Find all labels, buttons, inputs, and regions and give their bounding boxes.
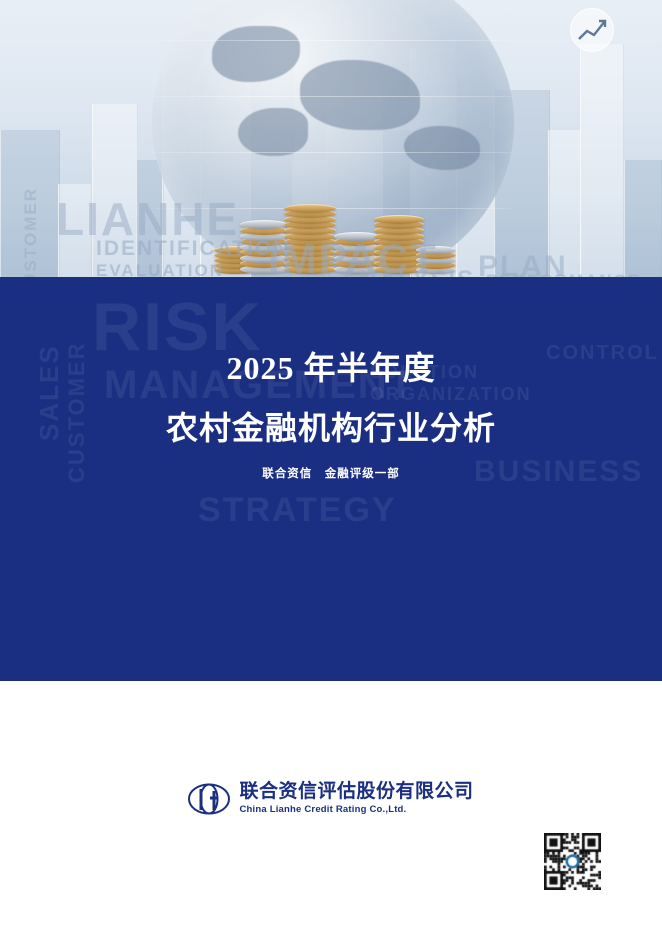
page-title: 2025 年半年度 农村金融机构行业分析 [0,343,662,449]
company-name-cn: 联合资信评估股份有限公司 [239,782,473,803]
qr-code-icon [543,832,600,889]
cover-subtitle: 联合资信 金融评级一部 [0,465,662,481]
banner-watermark-word: LIANHE [56,196,239,242]
document-cover-page: LIANHE IDENTIFICATION EVALUATION IMPACT … [0,0,662,936]
cover-banner-image: LIANHE IDENTIFICATION EVALUATION IMPACT … [0,0,662,280]
title-line-2: 农村金融机构行业分析 [0,403,662,449]
lianhe-logo-icon [188,780,230,818]
globe-landmass [238,108,308,156]
panel-watermark-word: STRATEGY [198,493,397,527]
title-line-1: 2025 年半年度 [0,343,662,389]
company-logo-block: 联合资信评估股份有限公司 China Lianhe Credit Rating … [0,780,662,818]
banner-watermark-word: IDENTIFICATION [96,238,290,259]
banner-watermark-word: CUSTOMER [22,187,39,280]
line-chart-icon [570,8,614,52]
company-name-en: China Lianhe Credit Rating Co.,Ltd. [239,805,473,815]
cover-title-panel: RISK MANAGEMENT SALES CUSTOMER BUSINESS … [0,277,662,681]
